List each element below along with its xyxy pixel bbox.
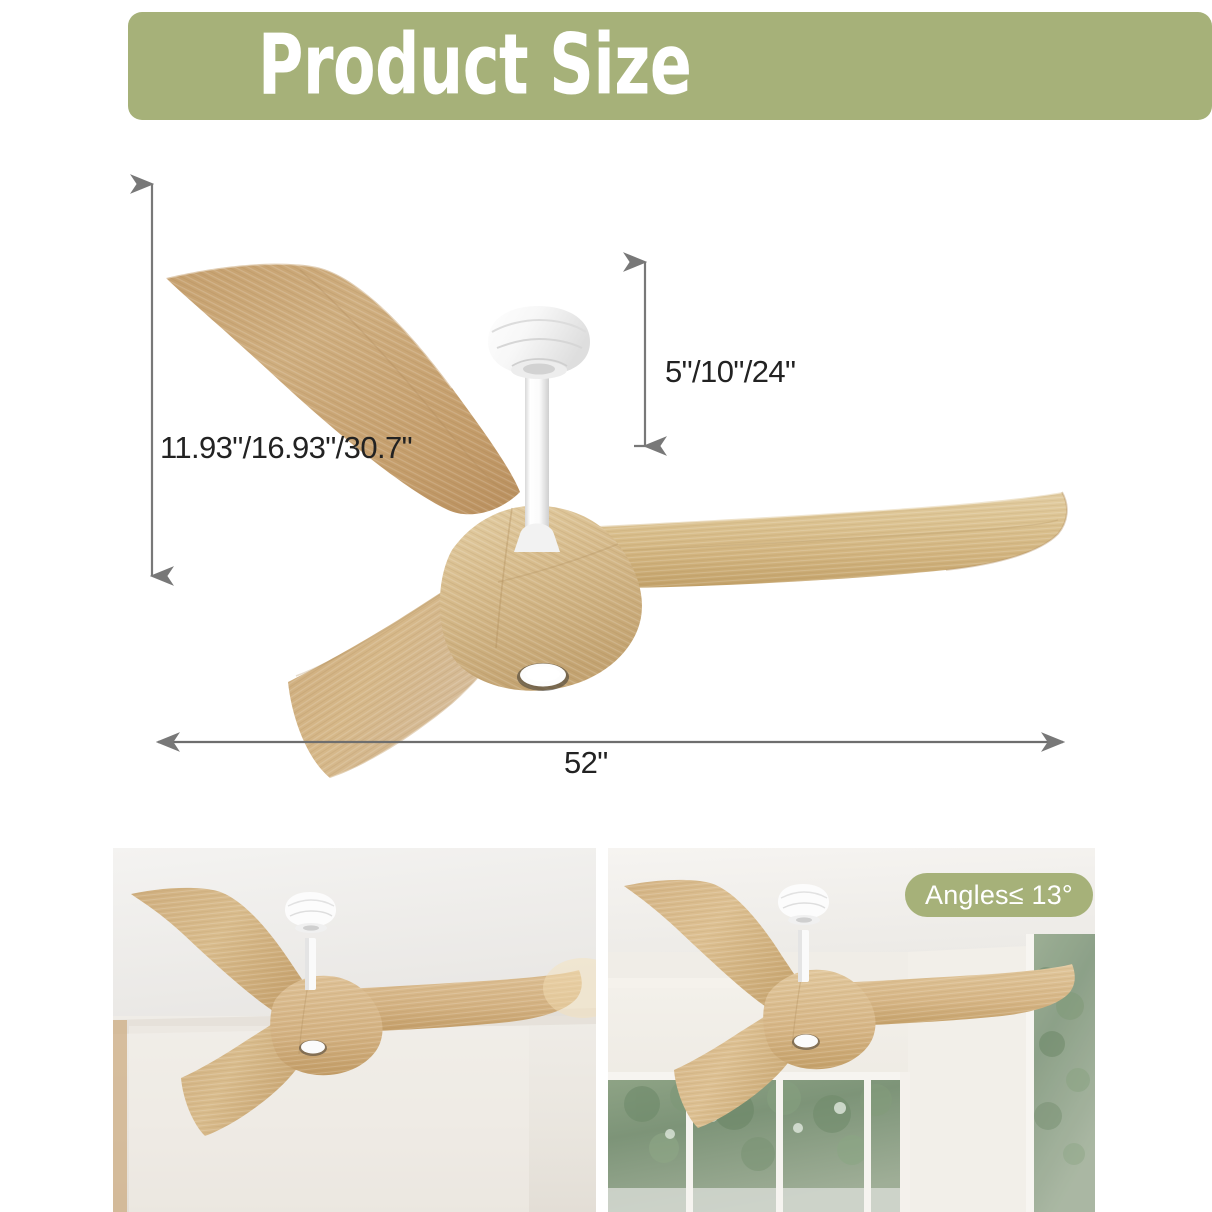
angles-badge: Angles≤ 13° bbox=[905, 873, 1093, 917]
fan-photo-interior-wall bbox=[113, 848, 596, 1212]
fan-blade-right bbox=[560, 492, 1067, 588]
fan-photo-interior-wall-image bbox=[113, 848, 596, 1212]
angles-badge-label: Angles≤ 13° bbox=[925, 880, 1073, 911]
dimension-label-downrod: 5"/10"/24" bbox=[665, 354, 795, 390]
ceiling-fan-illustration bbox=[0, 120, 1212, 820]
fan-ceiling-canopy bbox=[488, 306, 590, 379]
page-title: Product Size bbox=[258, 29, 762, 101]
product-photo-row: Angles≤ 13° bbox=[0, 848, 1212, 1212]
product-dimension-diagram: 11.93"/16.93"/30.7" 5"/10"/24" 52" bbox=[0, 120, 1212, 820]
dimension-label-span: 52" bbox=[564, 745, 608, 781]
product-size-header-banner: Product Size bbox=[128, 12, 1212, 120]
fan-blade-upper-left bbox=[166, 264, 520, 515]
page-title-text: Product Size bbox=[258, 23, 691, 107]
fan-photo-interior-window: Angles≤ 13° bbox=[608, 848, 1095, 1212]
dimension-label-height: 11.93"/16.93"/30.7" bbox=[160, 430, 412, 466]
